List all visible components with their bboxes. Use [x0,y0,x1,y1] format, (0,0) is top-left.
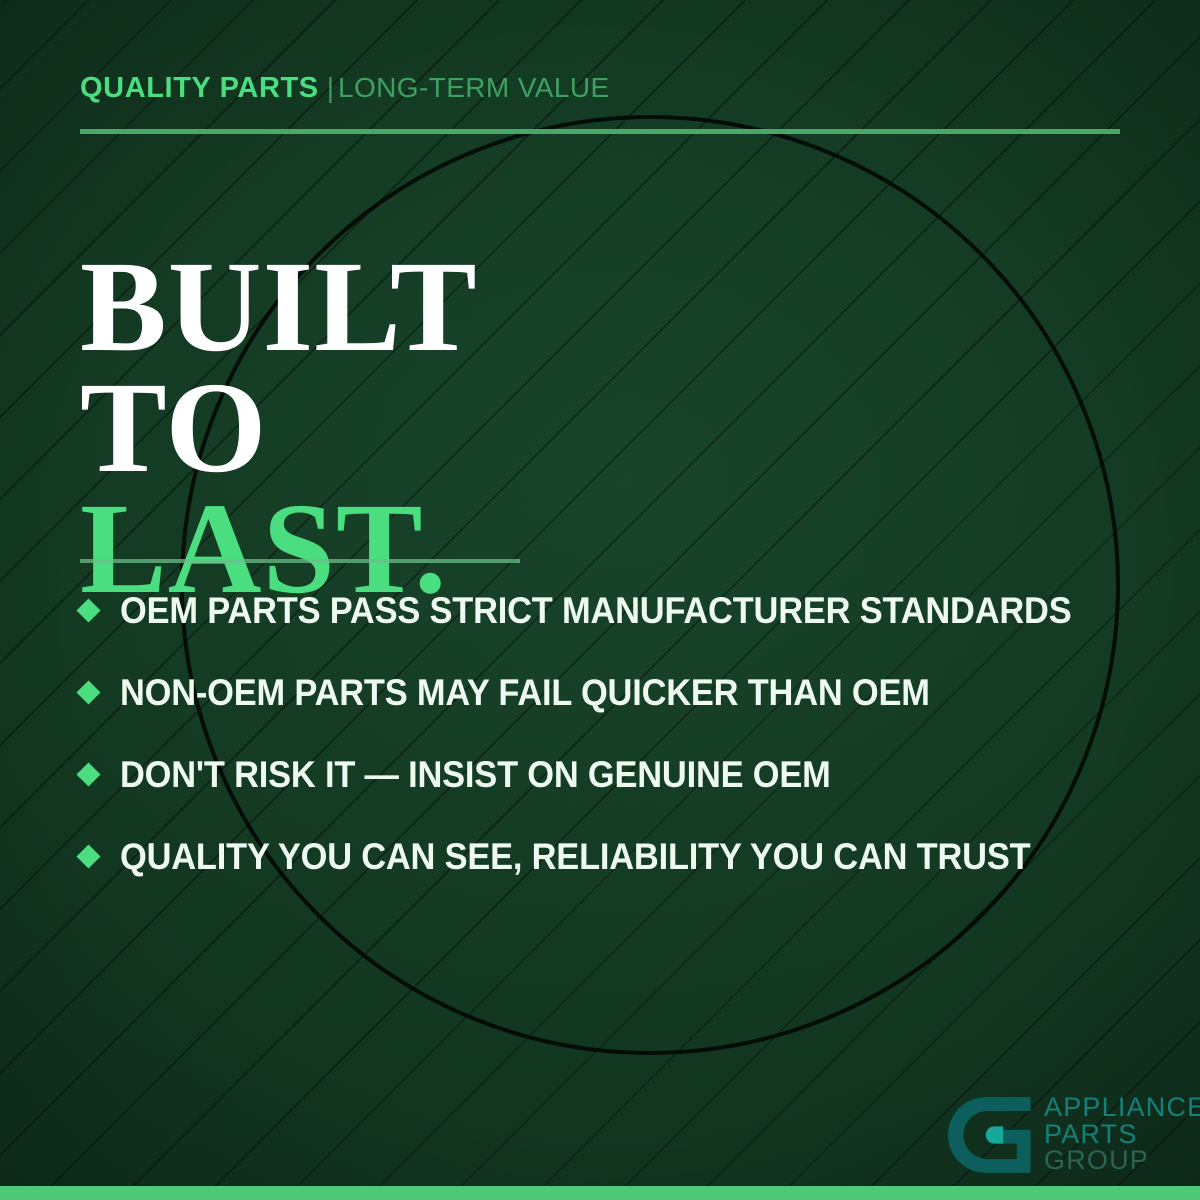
brand-word-parts: PARTS [1044,1121,1200,1148]
g-monogram-icon [948,1092,1034,1178]
list-item-label: OEM PARTS PASS STRICT MANUFACTURER STAND… [120,592,1071,629]
benefits-list: OEM PARTS PASS STRICT MANUFACTURER STAND… [80,589,1150,877]
eyebrow: QUALITY PARTS|LONG-TERM VALUE [80,74,610,103]
list-item-label: NON-OEM PARTS MAY FAIL QUICKER THAN OEM [120,674,930,711]
promo-poster: QUALITY PARTS|LONG-TERM VALUE BUILT TO L… [0,0,1200,1200]
brand-word-group: GROUP [1044,1147,1200,1174]
headline-line-1: BUILT [80,247,478,368]
brand-word-appliance: APPLIANCE [1044,1094,1200,1121]
diamond-bullet-icon [76,598,100,622]
headline-divider [80,559,520,563]
diamond-bullet-icon [76,844,100,868]
list-item: QUALITY YOU CAN SEE, RELIABILITY YOU CAN… [80,835,1150,877]
eyebrow-main-label: QUALITY PARTS [80,72,319,104]
list-item: DON'T RISK IT — INSIST ON GENUINE OEM [80,753,1150,795]
eyebrow-separator: | [327,72,334,103]
headline-line-2: TO [80,368,478,489]
brand-logo: APPLIANCE PARTS GROUP [948,1092,1200,1178]
diamond-bullet-icon [76,680,100,704]
list-item: NON-OEM PARTS MAY FAIL QUICKER THAN OEM [80,671,1150,713]
diamond-bullet-icon [76,762,100,786]
bottom-accent-bar [0,1186,1200,1200]
brand-wordmark: APPLIANCE PARTS GROUP [1044,1092,1200,1174]
list-item: OEM PARTS PASS STRICT MANUFACTURER STAND… [80,589,1150,631]
eyebrow-sub-label: LONG-TERM VALUE [338,72,610,103]
poster-content: QUALITY PARTS|LONG-TERM VALUE BUILT TO L… [0,0,1200,1200]
list-item-label: DON'T RISK IT — INSIST ON GENUINE OEM [120,756,831,793]
header-divider [80,129,1120,134]
list-item-label: QUALITY YOU CAN SEE, RELIABILITY YOU CAN… [120,838,1030,875]
page-title: BUILT TO LAST. [80,247,478,610]
